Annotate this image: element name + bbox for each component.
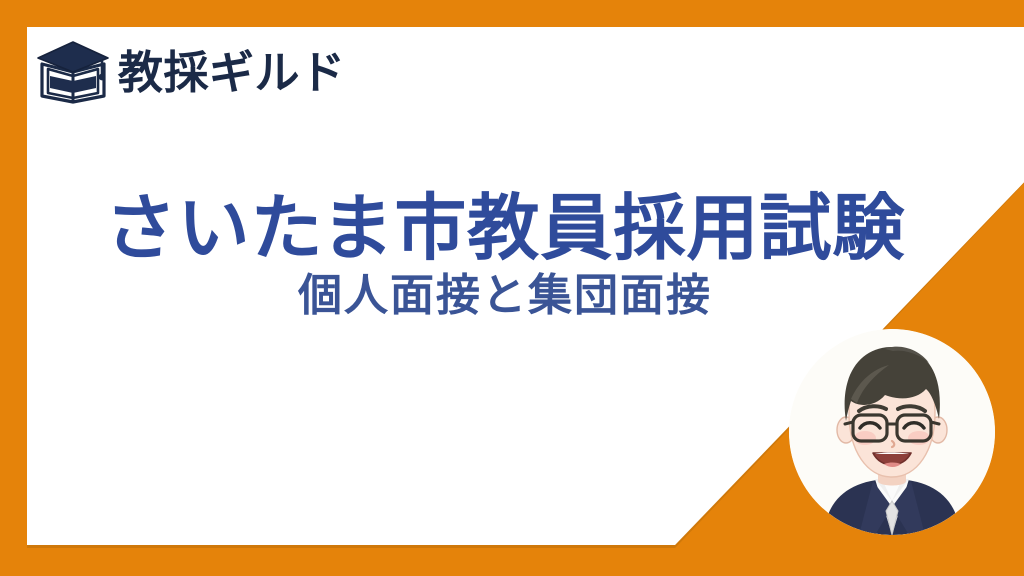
page-title: さいたま市教員採用試験 [0,190,1010,266]
headline-block: さいたま市教員採用試験 個人面接と集団面接 [0,190,1010,321]
graduation-cap-book-icon [36,38,110,106]
avatar-man-glasses-suit-icon [789,329,995,535]
brand-logo-text: 教採ギルド [118,50,346,95]
brand-logo: 教採ギルド [36,38,346,106]
avatar [789,329,995,535]
slide-canvas: 教採ギルド さいたま市教員採用試験 個人面接と集団面接 [0,0,1024,576]
page-subtitle: 個人面接と集団面接 [0,272,1010,320]
